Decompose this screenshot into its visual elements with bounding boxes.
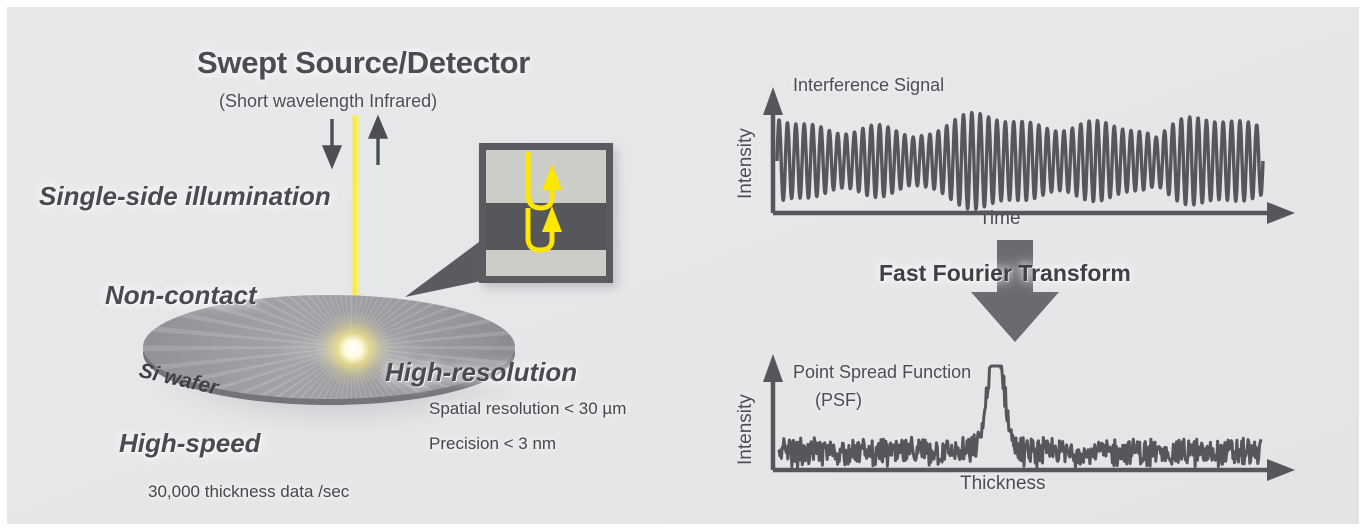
point-spread-function-chart	[755, 352, 1303, 480]
layer-stack-inset	[479, 143, 613, 283]
beam-spot-glow	[315, 311, 391, 387]
precision-detail: Precision < 3 nm	[429, 434, 556, 454]
psf-y-axis-label: Intensity	[735, 394, 757, 465]
psf-waveform	[779, 366, 1261, 468]
feature-high-speed: High-speed	[119, 428, 261, 459]
arrow-up-icon	[369, 119, 387, 165]
arrow-down-icon	[323, 119, 341, 165]
interference-y-axis-label: Intensity	[735, 128, 757, 199]
inset-ray-paths	[486, 150, 606, 276]
feature-non-contact: Non-contact	[105, 280, 257, 311]
arrow-down-block-icon	[959, 240, 1071, 344]
interference-signal-chart	[755, 85, 1303, 215]
figure-canvas: Swept Source/Detector (Short wavelength …	[7, 7, 1359, 524]
speed-detail: 30,000 thickness data /sec	[148, 482, 349, 502]
feature-high-resolution: High-resolution	[385, 357, 577, 388]
fft-label: Fast Fourier Transform	[879, 260, 1131, 287]
psf-axes	[763, 354, 1295, 481]
page-subtitle: (Short wavelength Infrared)	[219, 91, 437, 112]
page-title: Swept Source/Detector	[197, 45, 530, 81]
interference-waveform	[777, 113, 1263, 210]
feature-single-side-illumination: Single-side illumination	[39, 181, 331, 212]
spatial-resolution-detail: Spatial resolution < 30 µm	[429, 399, 626, 419]
